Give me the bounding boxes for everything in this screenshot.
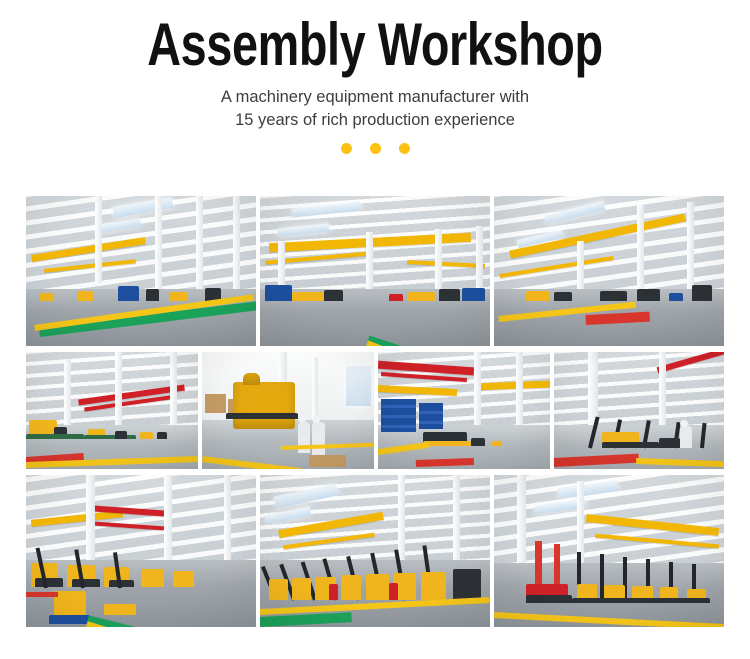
page-subtitle: A machinery equipment manufacturer with … [0, 86, 750, 132]
gallery-photo[interactable]: Blue storage racks and yellow assembly s… [378, 352, 550, 469]
gallery-photo[interactable]: Long workshop aisle with yellow crane ra… [494, 196, 724, 346]
gallery-photo[interactable]: Assembly bay with yellow gantry crane an… [260, 196, 490, 346]
gallery-row: Wide factory hall with white roof trusse… [26, 196, 724, 346]
gallery-photo[interactable]: Finished yellow machines parked under a … [26, 475, 256, 627]
page-title: Assembly Workshop [83, 14, 668, 76]
gallery-photo[interactable]: Red and yellow pile driving rigs parked … [494, 475, 724, 627]
gallery-row: Finished yellow machines parked under a … [26, 475, 724, 627]
gallery-photo[interactable]: Technician working on a tracked yellow d… [554, 352, 724, 469]
subtitle-line-1: A machinery equipment manufacturer with [0, 86, 750, 109]
gallery-row: Production line with red jib crane and y… [26, 352, 724, 469]
dot-icon [370, 143, 381, 154]
subtitle-line-2: 15 years of rich production experience [0, 109, 750, 132]
decorative-dots [0, 143, 750, 154]
gallery-photo[interactable]: Production line with red jib crane and y… [26, 352, 198, 469]
page-header: Assembly Workshop A machinery equipment … [0, 0, 750, 154]
gallery-photo[interactable]: Wide factory hall with white roof trusse… [26, 196, 256, 346]
photo-gallery: Wide factory hall with white roof trusse… [26, 196, 724, 627]
gallery-photo[interactable]: Rows of yellow crawler drilling rigs lin… [260, 475, 490, 627]
gallery-photo[interactable]: Two workers in white uniforms assembling… [202, 352, 374, 469]
assembly-workshop-page: Assembly Workshop A machinery equipment … [0, 0, 750, 659]
dot-icon [341, 143, 352, 154]
dot-icon [399, 143, 410, 154]
